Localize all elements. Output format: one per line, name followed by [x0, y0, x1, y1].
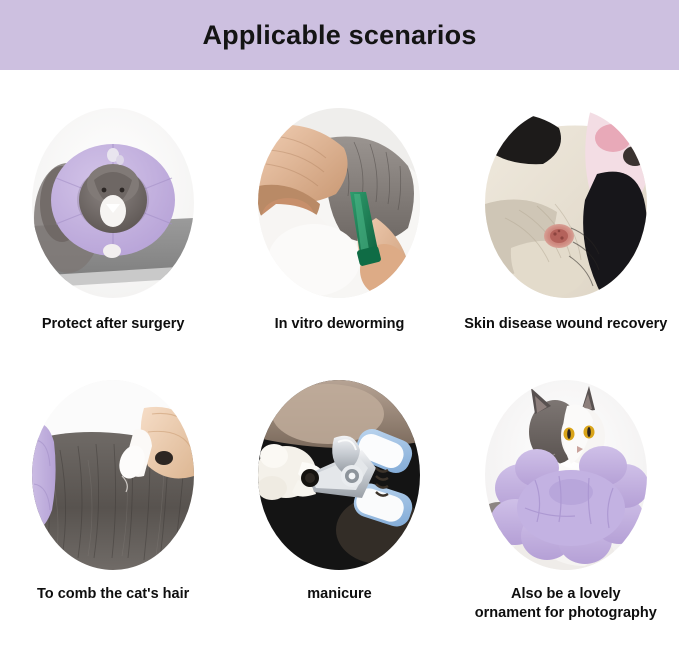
scenario-image-in-vitro-deworming	[258, 108, 420, 298]
scenario-card-in-vitro-deworming[interactable]: In vitro deworming	[226, 70, 452, 348]
scenario-caption: To comb the cat's hair	[37, 585, 189, 604]
scenario-image-manicure	[258, 380, 420, 570]
scenario-caption: manicure	[307, 585, 371, 604]
scenario-image-lovely-ornament-for-photography	[485, 380, 647, 570]
scenario-caption: Protect after surgery	[42, 315, 185, 334]
scenario-card-lovely-ornament-for-photography[interactable]: Also be a lovely ornament for photograph…	[453, 348, 679, 645]
scenario-caption: Skin disease wound recovery	[464, 315, 667, 334]
scenario-image-comb-the-cats-hair	[32, 380, 194, 570]
header-band: Applicable scenarios	[0, 0, 679, 70]
scenario-caption: In vitro deworming	[275, 315, 405, 334]
scenario-card-manicure[interactable]: manicure	[226, 348, 452, 645]
scenario-image-protect-after-surgery	[32, 108, 194, 298]
scenario-caption: Also be a lovely ornament for photograph…	[475, 585, 657, 623]
page-title: Applicable scenarios	[202, 22, 476, 49]
scenario-card-protect-after-surgery[interactable]: Protect after surgery	[0, 70, 226, 348]
scenarios-grid: Protect after surgery	[0, 70, 679, 645]
scenario-card-comb-the-cats-hair[interactable]: To comb the cat's hair	[0, 348, 226, 645]
scenario-image-skin-disease-wound-recovery	[485, 108, 647, 298]
scenario-card-skin-disease-wound-recovery[interactable]: Skin disease wound recovery	[453, 70, 679, 348]
